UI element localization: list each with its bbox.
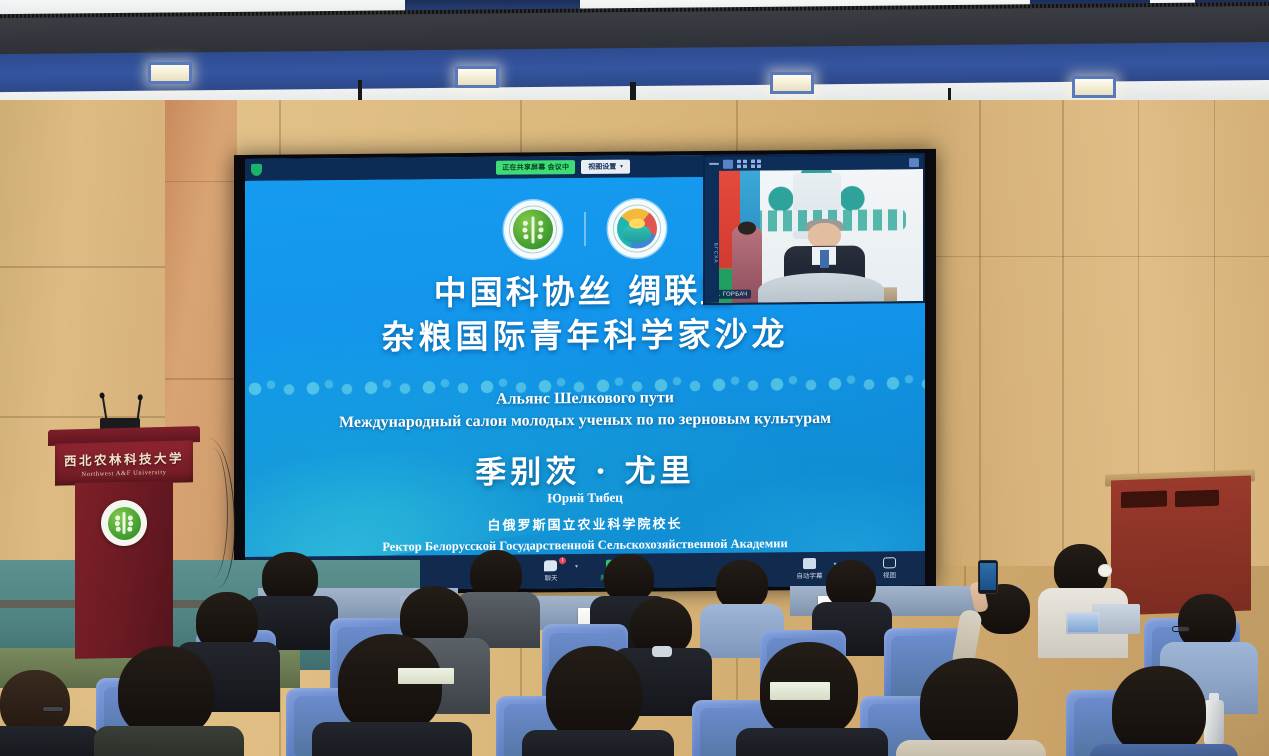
eyeglasses xyxy=(42,706,64,712)
chevron-down-icon: ▾ xyxy=(620,164,623,170)
handout-papers xyxy=(770,682,830,700)
remote-speaker-head xyxy=(808,223,841,248)
lectern-nameplate: 西北农林科技大学 Northwest A&F University xyxy=(55,440,193,486)
ceiling-light xyxy=(1072,76,1116,98)
audience-head xyxy=(604,554,654,602)
audience-head xyxy=(118,646,214,738)
minimize-icon[interactable] xyxy=(709,163,719,165)
fullscreen-icon[interactable] xyxy=(909,158,919,167)
speaker-name-cn: 季别茨 · 尤里 xyxy=(245,443,926,494)
logo-divider xyxy=(584,212,586,246)
audience-head xyxy=(1112,666,1206,756)
hair-clip xyxy=(1098,564,1112,577)
audience-body xyxy=(896,740,1046,756)
alliance-emblem-icon xyxy=(617,209,657,249)
audience-body xyxy=(94,726,244,756)
university-name-cn: 西北农林科技大学 xyxy=(64,447,184,469)
eyeglasses xyxy=(1172,626,1190,632)
remote-video-tile[interactable]: Ю. ГОРБАЧ БГСХА xyxy=(703,153,925,305)
view-selector[interactable]: 视图设置 ▾ xyxy=(581,160,630,174)
audience-head xyxy=(716,560,768,610)
gallery-view-icon[interactable] xyxy=(737,159,747,168)
ceiling-speaker xyxy=(630,82,636,100)
video-tile-controls xyxy=(705,155,923,171)
handout-papers xyxy=(398,668,454,684)
audience-body xyxy=(0,726,100,756)
audience-area: 陈 胡 王 xyxy=(0,500,1269,756)
audience-body xyxy=(312,722,472,756)
view-selector-label: 视图设置 xyxy=(588,162,616,172)
audience-body xyxy=(522,730,674,756)
slide-subtitle-ru: Альянс Шелкового пути Международный сало… xyxy=(245,387,926,433)
maximize-icon[interactable] xyxy=(723,160,733,169)
ceiling-light xyxy=(148,62,192,84)
recording-banner: 正在共享屏幕 会议中 xyxy=(496,160,575,175)
audience-body xyxy=(736,728,888,756)
ceiling-light xyxy=(770,72,814,94)
smartphone[interactable] xyxy=(978,560,998,594)
ceiling-light xyxy=(455,66,499,88)
water-bottle xyxy=(1204,700,1224,746)
ceiling-speaker xyxy=(948,88,951,100)
laptop[interactable] xyxy=(1066,612,1100,634)
university-name-en: Northwest A&F University xyxy=(81,469,166,478)
video-side-label: БГСХА xyxy=(706,242,718,263)
slide-title-line2: 杂粮国际青年科学家沙龙 xyxy=(245,311,926,360)
cast-wheat-logo xyxy=(504,201,562,260)
grid-view-icon[interactable] xyxy=(751,159,761,168)
ceiling-speaker xyxy=(358,80,362,100)
remote-video-feed: Ю. ГОРБАЧ БГСХА xyxy=(705,169,923,303)
audience-head xyxy=(546,646,642,742)
audience-head xyxy=(826,560,876,608)
audience-head xyxy=(920,658,1018,752)
subtitle-ru-line2: Международный салон молодых ученых по по… xyxy=(245,409,926,433)
silk-road-alliance-logo xyxy=(608,200,666,259)
audience-head xyxy=(338,634,442,734)
security-shield-icon xyxy=(251,164,262,176)
wheat-emblem-icon xyxy=(513,210,553,250)
audience-body xyxy=(1090,744,1238,756)
conference-hall-photo: 正在共享屏幕 会议中 视图设置 ▾ xyxy=(0,0,1269,756)
face-mask xyxy=(652,646,672,657)
ceiling xyxy=(0,0,1269,100)
